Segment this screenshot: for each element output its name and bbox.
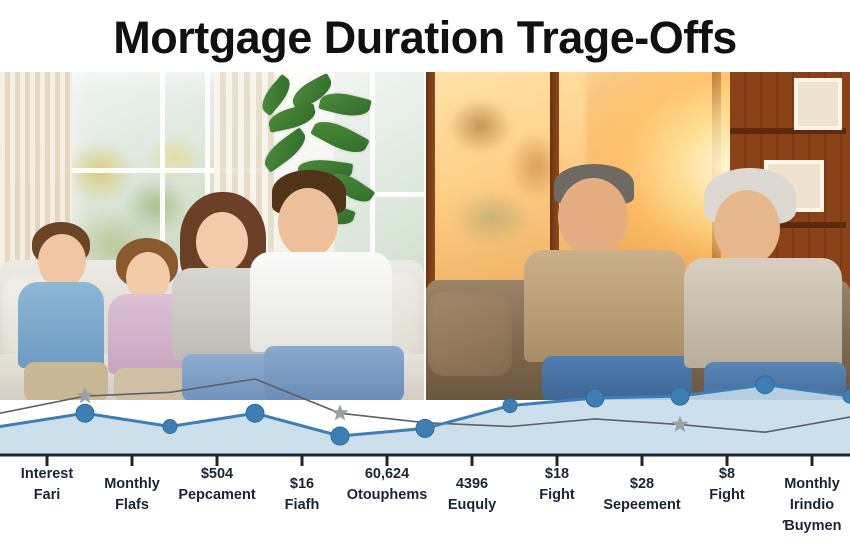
photo-strip bbox=[0, 72, 850, 400]
chart-point-blue bbox=[503, 399, 517, 413]
infographic-page: Mortgage Duration Trage-Offs bbox=[0, 0, 850, 550]
page-title: Mortgage Duration Trage-Offs bbox=[113, 15, 737, 60]
chart-point-blue bbox=[163, 420, 177, 434]
axis-tick-label: 4396Euquly bbox=[448, 474, 496, 516]
chart-point-blue bbox=[416, 419, 434, 437]
trend-chart[interactable] bbox=[0, 358, 850, 466]
chart-point-blue bbox=[756, 376, 774, 394]
axis-tick-label: $28Sepeement bbox=[603, 474, 680, 516]
window-frame-icon bbox=[426, 72, 435, 288]
chart-point-blue bbox=[331, 427, 349, 445]
chart-point-blue bbox=[586, 389, 604, 407]
axis-tick-label: $18Fight bbox=[539, 464, 574, 506]
chart-point-blue bbox=[246, 404, 264, 422]
axis-tick-label: 60,624Otouphems bbox=[347, 464, 428, 506]
photo-older-couple bbox=[426, 72, 850, 400]
chart-point-star bbox=[331, 404, 348, 420]
chart-axis-labels: InterestFariMonthlyFlafs$504Pepcament$16… bbox=[0, 464, 850, 550]
title-bar: Mortgage Duration Trage-Offs bbox=[0, 0, 850, 72]
chart-point-star bbox=[76, 387, 93, 403]
axis-tick-label: $16Fiafh bbox=[285, 474, 320, 516]
axis-tick-label: $504Pepcament bbox=[178, 464, 255, 506]
axis-tick-label: $8Fight bbox=[709, 464, 744, 506]
chart-panel: InterestFariMonthlyFlafs$504Pepcament$16… bbox=[0, 400, 850, 550]
axis-tick-label: InterestFari bbox=[21, 464, 73, 506]
axis-tick-label: MonthlyFlafs bbox=[104, 474, 160, 516]
chart-point-blue bbox=[76, 404, 94, 422]
axis-tick-label: MonthlyIrindioƁuymen bbox=[783, 474, 842, 537]
chart-point-blue bbox=[671, 387, 689, 405]
framed-picture bbox=[794, 78, 842, 130]
photo-young-family bbox=[0, 72, 424, 400]
